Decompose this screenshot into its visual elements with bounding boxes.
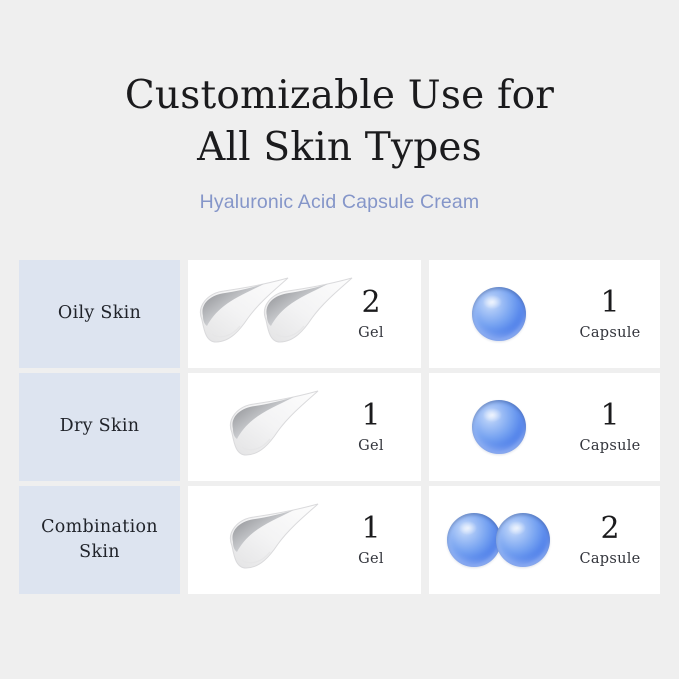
capsule-amount-cell: 1 Capsule	[429, 373, 660, 481]
gel-count-box: 1 Gel	[325, 514, 421, 567]
skin-type-label: Combination Skin	[27, 515, 172, 566]
gel-count-unit: Gel	[358, 325, 384, 341]
gel-amount-cell: 1 Gel	[188, 373, 421, 481]
capsule-visual	[429, 260, 564, 368]
skin-type-label: Dry Skin	[60, 414, 140, 439]
capsule-count-unit: Capsule	[579, 325, 640, 341]
skin-type-cell: Combination Skin	[19, 486, 180, 594]
infographic-page: Customizable Use for All Skin Types Hyal…	[0, 0, 679, 679]
table-row: Dry Skin	[19, 373, 660, 481]
capsule-group	[429, 373, 564, 481]
table-row: Oily Skin	[19, 260, 660, 368]
capsule-count-number: 2	[600, 514, 619, 544]
skin-type-label: Oily Skin	[58, 301, 141, 326]
capsule-amount-cell: 2 Capsule	[429, 486, 660, 594]
capsule-group	[429, 486, 564, 594]
gel-swatch-group	[188, 486, 325, 594]
capsule-visual	[429, 373, 564, 481]
capsule-amount-cell: 1 Capsule	[429, 260, 660, 368]
gel-count-box: 1 Gel	[325, 401, 421, 454]
gel-swatch-icon	[222, 389, 326, 465]
capsule-group	[429, 260, 564, 368]
product-subtitle: Hyaluronic Acid Capsule Cream	[0, 191, 679, 214]
capsule-count-box: 1 Capsule	[564, 288, 660, 341]
gel-swatch-group	[188, 373, 325, 481]
usage-table: Oily Skin	[19, 260, 660, 594]
gel-swatch-visual	[188, 260, 325, 368]
page-title-line-1: Customizable Use for	[0, 70, 679, 122]
skin-type-cell: Dry Skin	[19, 373, 180, 481]
gel-amount-cell: 1 Gel	[188, 486, 421, 594]
gel-count-number: 2	[361, 288, 380, 318]
table-row: Combination Skin	[19, 486, 660, 594]
capsule-count-number: 1	[600, 401, 619, 431]
capsule-count-unit: Capsule	[579, 551, 640, 567]
gel-swatch-visual	[188, 486, 325, 594]
gel-count-number: 1	[361, 401, 380, 431]
gel-swatch-icon	[256, 276, 360, 352]
gel-count-unit: Gel	[358, 551, 384, 567]
gel-count-unit: Gel	[358, 438, 384, 454]
gel-swatch-icon	[222, 502, 326, 578]
capsule-count-unit: Capsule	[579, 438, 640, 454]
page-title-line-2: All Skin Types	[0, 122, 679, 174]
capsule-visual	[429, 486, 564, 594]
gel-amount-cell: 2 Gel	[188, 260, 421, 368]
skin-type-cell: Oily Skin	[19, 260, 180, 368]
capsule-bead-icon	[472, 400, 526, 454]
capsule-bead-icon	[447, 513, 501, 567]
capsule-count-number: 1	[600, 288, 619, 318]
capsule-count-box: 1 Capsule	[564, 401, 660, 454]
page-title: Customizable Use for All Skin Types	[0, 70, 679, 174]
capsule-count-box: 2 Capsule	[564, 514, 660, 567]
gel-swatch-group	[188, 260, 325, 368]
capsule-bead-icon	[472, 287, 526, 341]
gel-count-number: 1	[361, 514, 380, 544]
header: Customizable Use for All Skin Types Hyal…	[0, 0, 679, 214]
gel-swatch-visual	[188, 373, 325, 481]
capsule-bead-icon	[496, 513, 550, 567]
